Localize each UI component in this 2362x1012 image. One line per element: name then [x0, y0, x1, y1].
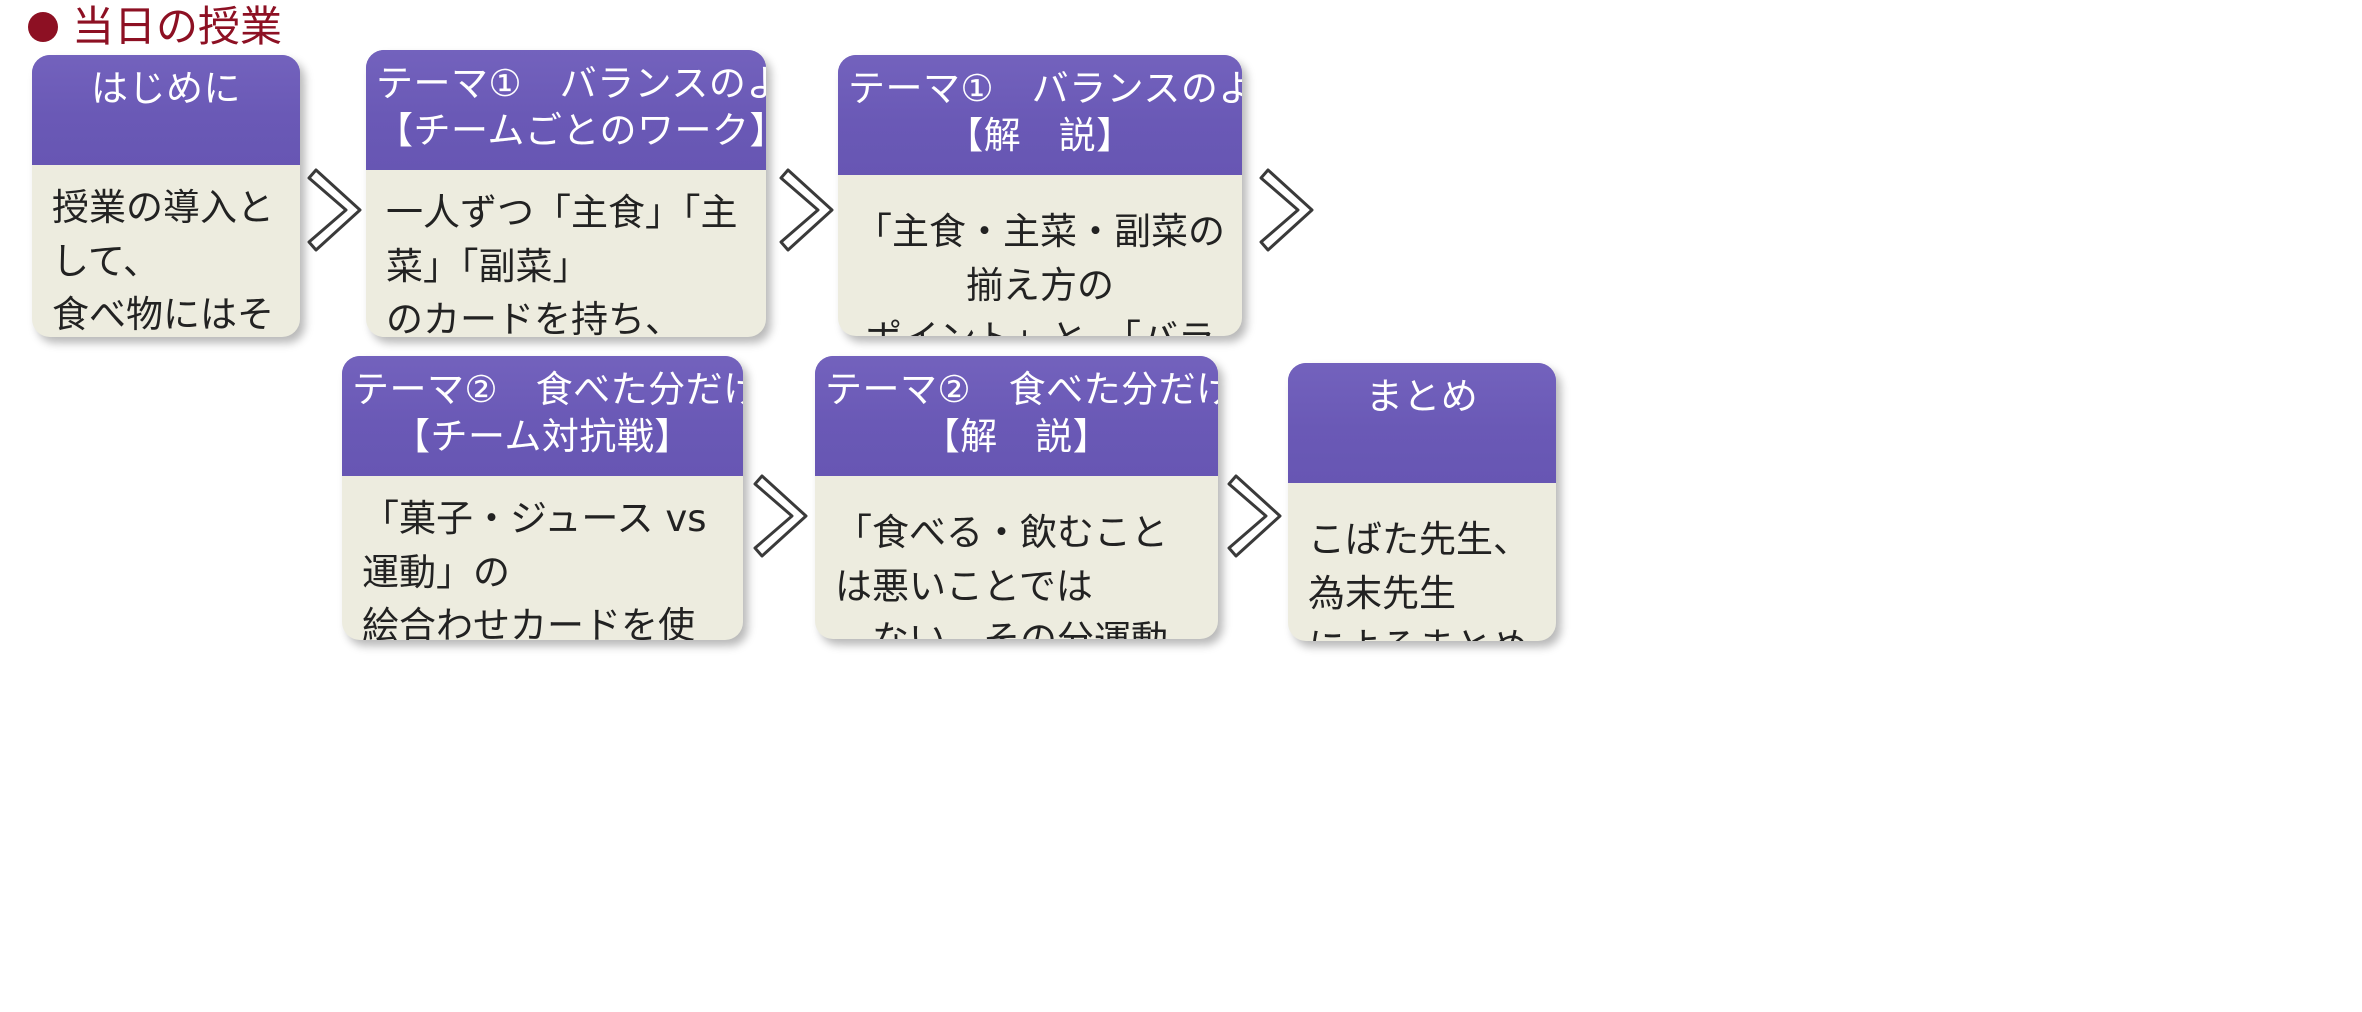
- flow-card-body: 「食べる・飲むことは悪いことでは ない。その分運動すればよい」 ことを解説: [815, 476, 1218, 639]
- chevron-right-icon: [752, 468, 814, 564]
- flow-card-header: まとめ: [1288, 363, 1556, 483]
- chevron-right-icon: [1258, 162, 1320, 258]
- flow-card-header-line-1: はじめに: [42, 65, 290, 112]
- flow-card-header: テーマ① バランスのよい食べ方 【解 説】: [838, 55, 1242, 175]
- flow-card-header-line-1: まとめ: [1298, 373, 1546, 420]
- flow-card-body: 授業の導入として、 食べ物にはそれぞれ 働きがあることを 説明: [32, 165, 300, 337]
- flow-card-header: はじめに: [32, 55, 300, 165]
- chevron-right-icon: [306, 162, 368, 258]
- flow-card-header-line-2: 【チームごとのワーク】: [376, 107, 756, 154]
- flow-card-header-line-2: 【解 説】: [848, 112, 1232, 159]
- flow-card-header-line-2: 【チーム対抗戦】: [352, 413, 733, 460]
- flow-card-header-line-2: 【解 説】: [825, 413, 1208, 460]
- flow-card-introduction[interactable]: はじめに 授業の導入として、 食べ物にはそれぞれ 働きがあることを 説明: [32, 55, 300, 337]
- flow-card-header: テーマ② 食べた分だけ動こう 【解 説】: [815, 356, 1218, 476]
- flow-card-theme2-team-battle[interactable]: テーマ② 食べた分だけ動こう 【チーム対抗戦】 「菓子・ジュース vs 運動」の…: [342, 356, 743, 640]
- flow-card-theme2-explanation[interactable]: テーマ② 食べた分だけ動こう 【解 説】 「食べる・飲むことは悪いことでは ない…: [815, 356, 1218, 639]
- lesson-flow-diagram: はじめに 授業の導入として、 食べ物にはそれぞれ 働きがあることを 説明 テーマ…: [0, 0, 2362, 1012]
- flow-card-header: テーマ① バランスのよい食べ方 【チームごとのワーク】: [366, 50, 766, 170]
- flow-card-header: テーマ② 食べた分だけ動こう 【チーム対抗戦】: [342, 356, 743, 476]
- flow-card-header-line-1: テーマ① バランスのよい食べ方: [848, 65, 1232, 112]
- flow-card-body: 一人ずつ「主食」「主菜」「副菜」 のカードを持ち、 「主食・主菜・副菜」が揃うよ…: [366, 170, 766, 337]
- flow-card-body: 「主食・主菜・副菜の揃え方の ポイント」と、「バランスよく 食べることの大切さ」…: [838, 175, 1242, 336]
- flow-card-header-line-1: テーマ② 食べた分だけ動こう: [352, 366, 733, 413]
- flow-card-theme1-explanation[interactable]: テーマ① バランスのよい食べ方 【解 説】 「主食・主菜・副菜の揃え方の ポイン…: [838, 55, 1242, 336]
- flow-card-summary[interactable]: まとめ こばた先生、為末先生 によるまとめのお話し: [1288, 363, 1556, 641]
- chevron-right-icon: [1226, 468, 1288, 564]
- chevron-right-icon: [778, 162, 840, 258]
- flow-card-body: 「菓子・ジュース vs 運動」の 絵合わせカードを使用し、チーム 対抗で体を動か…: [342, 476, 743, 640]
- flow-card-header-line-1: テーマ① バランスのよい食べ方: [376, 60, 756, 107]
- flow-card-header-line-1: テーマ② 食べた分だけ動こう: [825, 366, 1208, 413]
- flow-card-theme1-work[interactable]: テーマ① バランスのよい食べ方 【チームごとのワーク】 一人ずつ「主食」「主菜」…: [366, 50, 766, 337]
- flow-card-body: こばた先生、為末先生 によるまとめのお話し: [1288, 483, 1556, 641]
